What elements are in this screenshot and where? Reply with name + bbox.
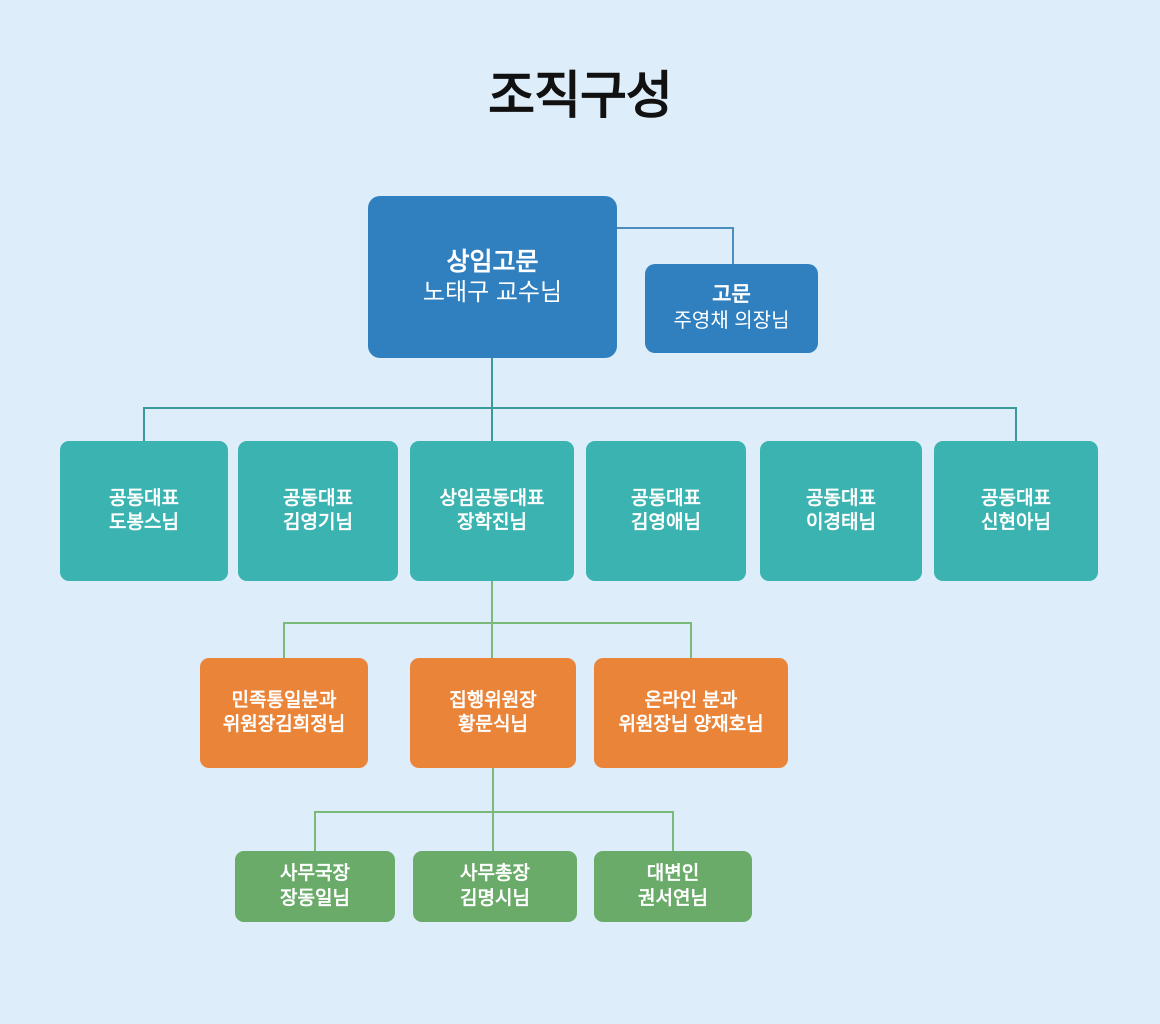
node-co-representative-1[interactable]: 공동대표 도봉스님 [60, 441, 228, 581]
node-executive-chair-person: 황문식님 [458, 713, 528, 737]
node-co-representative-6-role: 공동대표 [981, 487, 1051, 511]
node-co-representative-6[interactable]: 공동대표 신현아님 [934, 441, 1098, 581]
node-spokesperson-person: 권서연님 [638, 887, 708, 911]
node-spokesperson[interactable]: 대변인 권서연님 [594, 851, 752, 922]
node-advisor-role: 고문 [712, 282, 751, 309]
node-co-representative-5-role: 공동대표 [806, 487, 876, 511]
node-co-representative-4[interactable]: 공동대표 김영애님 [586, 441, 746, 581]
node-executive-chair-role: 집행위원장 [449, 689, 536, 713]
node-co-representative-2-person: 김영기님 [283, 511, 353, 535]
node-standing-co-representative-person: 장학진님 [457, 511, 527, 535]
connector-chief-to-corep [144, 358, 1016, 441]
node-chief-advisor-person: 노태구 교수님 [423, 278, 562, 309]
node-online-committee-role: 온라인 분과 [645, 689, 738, 713]
node-secretary-chief-role: 사무총장 [460, 862, 530, 886]
node-secretary-chief[interactable]: 사무총장 김명시님 [413, 851, 577, 922]
node-advisor[interactable]: 고문 주영채 의장님 [645, 264, 818, 353]
node-chief-advisor[interactable]: 상임고문 노태구 교수님 [368, 196, 617, 358]
node-secretary-general-role: 사무국장 [280, 862, 350, 886]
node-advisor-person: 주영채 의장님 [674, 309, 790, 335]
node-co-representative-1-person: 도봉스님 [109, 511, 179, 535]
node-chief-advisor-role: 상임고문 [446, 246, 538, 278]
connector-corep-to-committee [284, 581, 691, 658]
node-co-representative-1-role: 공동대표 [109, 487, 179, 511]
node-executive-chair[interactable]: 집행위원장 황문식님 [410, 658, 576, 768]
node-spokesperson-role: 대변인 [647, 862, 699, 886]
node-standing-co-representative[interactable]: 상임공동대표 장학진님 [410, 441, 574, 581]
node-co-representative-4-person: 김영애님 [631, 511, 701, 535]
node-co-representative-5-person: 이경태님 [806, 511, 876, 535]
node-co-representative-6-person: 신현아님 [981, 511, 1051, 535]
node-co-representative-2-role: 공동대표 [283, 487, 353, 511]
org-chart: 조직구성 상임고문 노태구 교수님 고문 주영채 의장님 공동대표 [0, 0, 1160, 1024]
node-co-representative-4-role: 공동대표 [631, 487, 701, 511]
node-online-committee[interactable]: 온라인 분과 위원장님 양재호님 [594, 658, 788, 768]
connector-committee-to-staff [315, 768, 673, 851]
node-secretary-general-person: 장동일님 [280, 887, 350, 911]
node-secretary-general[interactable]: 사무국장 장동일님 [235, 851, 395, 922]
node-unification-committee-role: 민족통일분과 [232, 689, 337, 713]
node-unification-committee-person: 위원장김희정님 [223, 713, 345, 737]
node-co-representative-2[interactable]: 공동대표 김영기님 [238, 441, 398, 581]
node-unification-committee[interactable]: 민족통일분과 위원장김희정님 [200, 658, 368, 768]
node-secretary-chief-person: 김명시님 [460, 887, 530, 911]
node-online-committee-person: 위원장님 양재호님 [618, 713, 763, 737]
connector-chief-to-advisor [617, 228, 733, 264]
node-standing-co-representative-role: 상임공동대표 [440, 487, 545, 511]
node-co-representative-5[interactable]: 공동대표 이경태님 [760, 441, 922, 581]
